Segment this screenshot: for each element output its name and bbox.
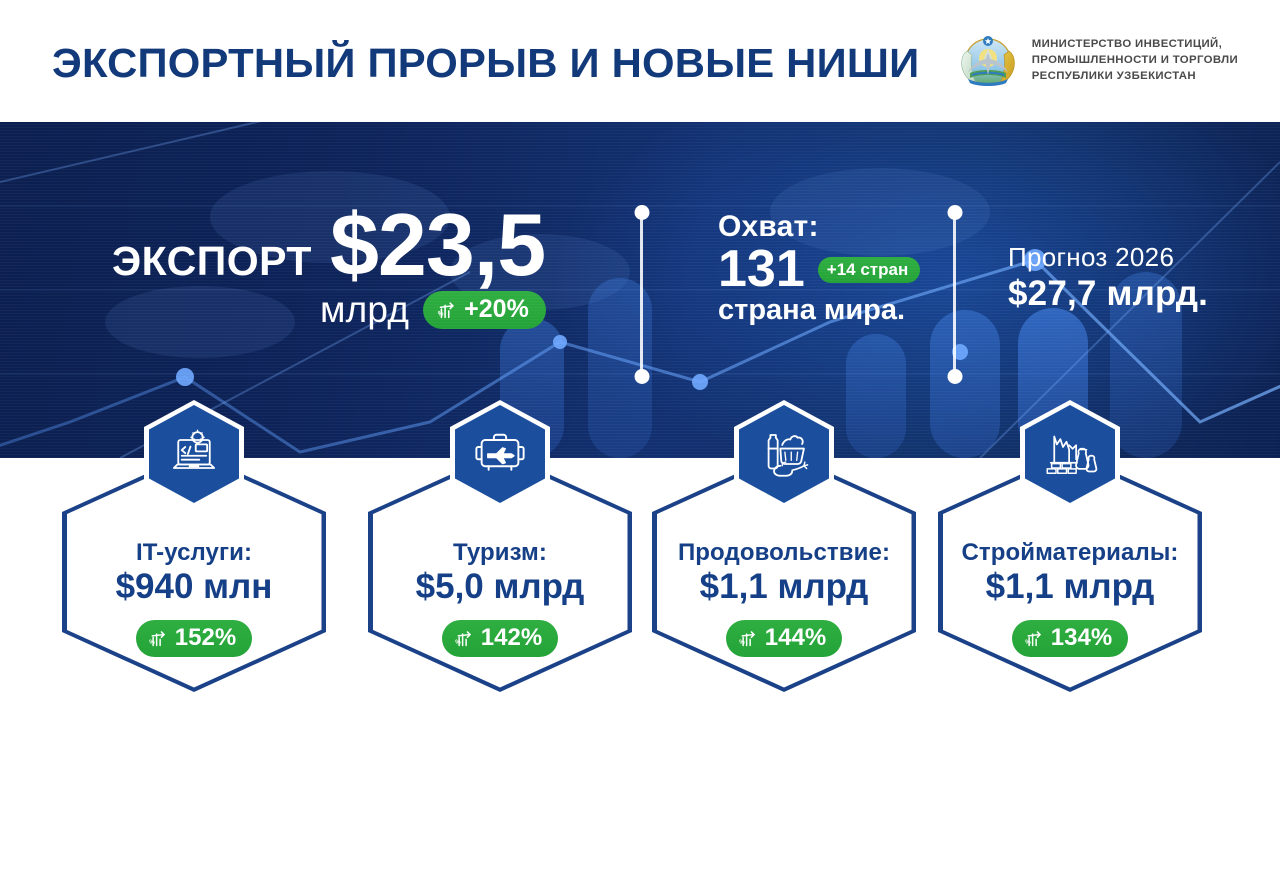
card-value: $1,1 млрд	[652, 567, 916, 607]
card-text: Туризм: $5,0 млрд % 142%	[368, 540, 632, 657]
card-growth-badge: % 144%	[726, 620, 842, 657]
infographic-root: ЭКСПОРТНЫЙ ПРОРЫВ И НОВЫЕ НИШИ	[0, 0, 1280, 896]
card-growth-text: 144%	[765, 626, 826, 650]
card-growth-badge: % 152%	[136, 620, 252, 657]
card-value: $1,1 млрд	[938, 567, 1202, 607]
card-text: Продовольствие: $1,1 млрд % 144%	[652, 540, 916, 657]
card-text: Стройматериалы: $1,1 млрд % 134%	[938, 540, 1202, 657]
card-growth-badge: % 142%	[442, 620, 558, 657]
card-label: Продовольствие:	[652, 540, 916, 567]
growth-arrow-icon: %	[737, 628, 758, 649]
svg-text:%: %	[455, 638, 461, 645]
sector-card-tourism[interactable]: Туризм: $5,0 млрд % 142%	[368, 400, 632, 692]
svg-text:%: %	[149, 638, 155, 645]
card-text: IT-услуги: $940 млн % 152%	[62, 540, 326, 657]
growth-arrow-icon: %	[453, 628, 474, 649]
card-growth-text: 134%	[1051, 626, 1112, 650]
growth-arrow-icon: %	[147, 628, 168, 649]
sector-card-it[interactable]: IT-услуги: $940 млн % 152%	[62, 400, 326, 692]
sector-card-food[interactable]: Продовольствие: $1,1 млрд % 144%	[652, 400, 916, 692]
growth-arrow-icon: %	[1023, 628, 1044, 649]
sector-cards: IT-услуги: $940 млн % 152%	[0, 0, 1280, 896]
card-label: IT-услуги:	[62, 540, 326, 567]
card-label: Туризм:	[368, 540, 632, 567]
card-growth-text: 152%	[175, 626, 236, 650]
sector-card-construction[interactable]: Стройматериалы: $1,1 млрд % 134%	[938, 400, 1202, 692]
card-value: $940 млн	[62, 567, 326, 607]
card-growth-text: 142%	[481, 626, 542, 650]
card-label: Стройматериалы:	[938, 540, 1202, 567]
svg-text:%: %	[739, 638, 745, 645]
svg-text:%: %	[1025, 638, 1031, 645]
card-growth-badge: % 134%	[1012, 620, 1128, 657]
card-value: $5,0 млрд	[368, 567, 632, 607]
